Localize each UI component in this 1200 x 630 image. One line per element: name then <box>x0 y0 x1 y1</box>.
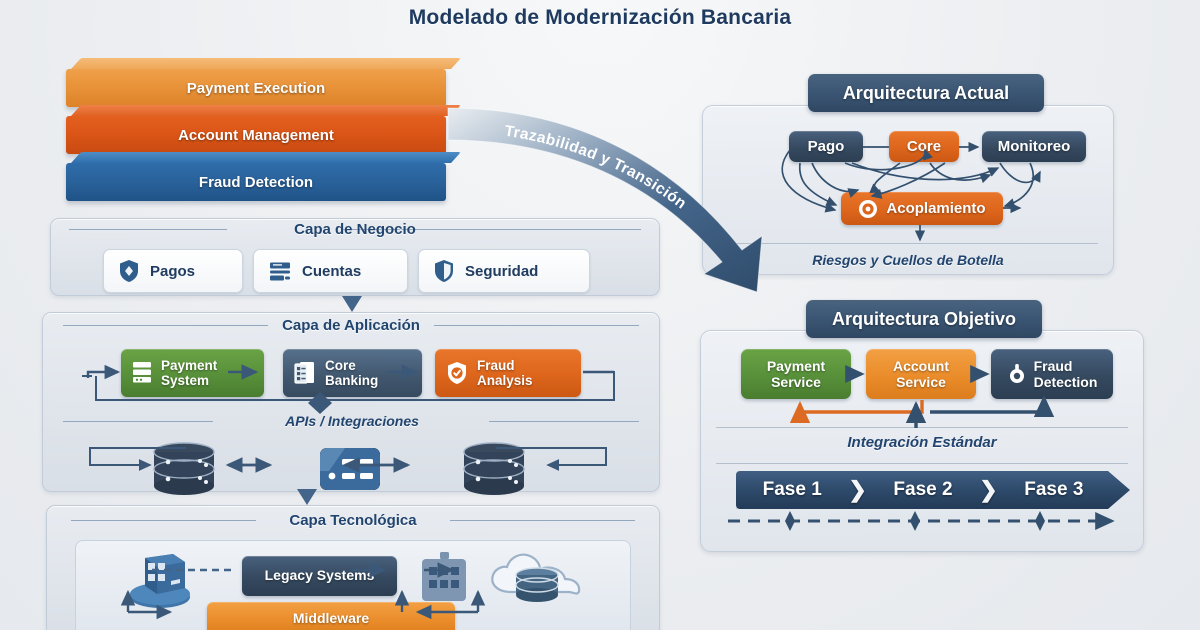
app-box-label-line2: Analysis <box>477 373 533 388</box>
business-card-label: Seguridad <box>465 263 538 280</box>
page-title: Modelado de Modernización Bancaria <box>0 6 1200 30</box>
service-label-line1: Fraud <box>1034 358 1098 374</box>
app-box-label-line1: Fraud <box>477 358 533 373</box>
capability-bar-label: Fraud Detection <box>199 174 313 191</box>
technology-layer-title: Capa Tecnológica <box>47 512 659 529</box>
application-layer-title: Capa de Aplicación <box>43 317 659 334</box>
database-icon[interactable] <box>458 441 530 497</box>
diagram-canvas: Modelado de Modernización Bancaria Payme… <box>0 0 1200 630</box>
app-box-label-line2: Banking <box>325 373 378 388</box>
application-layer-panel: Capa de Aplicación Payment System <box>42 312 660 492</box>
target-integration-label: Integración Estándar <box>700 434 1144 451</box>
business-card-pagos[interactable]: Pagos <box>103 249 243 293</box>
current-node-core[interactable]: Core <box>889 131 959 162</box>
target-architecture-title: Arquitectura Objetivo <box>806 300 1042 338</box>
middleware-label: Middleware <box>293 611 369 627</box>
server-icon <box>131 360 153 386</box>
business-card-seguridad[interactable]: Seguridad <box>418 249 590 293</box>
app-box-label-line1: Payment <box>161 358 217 373</box>
business-card-cuentas[interactable]: Cuentas <box>253 249 408 293</box>
current-node-acoplamiento[interactable]: Acoplamiento <box>841 192 1003 225</box>
node-label: Core <box>907 138 941 155</box>
business-card-label: Cuentas <box>302 263 361 280</box>
service-label-line1: Account <box>893 358 949 374</box>
target-service-payment[interactable]: Payment Service <box>741 349 851 399</box>
datacenter-icon[interactable] <box>417 550 471 608</box>
phase-item-2[interactable]: Fase 2 <box>867 479 979 501</box>
app-box-label-line1: Core <box>325 358 378 373</box>
capability-bar-label: Account Management <box>178 127 334 144</box>
capability-bar-fraud-detection[interactable]: Fraud Detection <box>66 163 446 201</box>
current-node-monitoreo[interactable]: Monitoreo <box>982 131 1086 162</box>
legacy-systems-box[interactable]: Legacy Systems <box>242 556 397 596</box>
target-icon <box>858 199 878 219</box>
legacy-systems-label: Legacy Systems <box>265 568 375 584</box>
divider <box>718 243 1098 244</box>
divider <box>716 427 1128 428</box>
middleware-box[interactable]: Middleware <box>207 602 455 630</box>
api-node-icon[interactable] <box>319 447 381 491</box>
shield-half-icon <box>433 259 455 283</box>
current-architecture-footnote: Riesgos y Cuellos de Botella <box>702 252 1114 268</box>
server-stack-icon <box>268 259 292 283</box>
app-box-fraud-analysis[interactable]: Fraud Analysis <box>435 349 581 397</box>
arrow-business-up <box>342 296 362 312</box>
service-label-line2: Service <box>771 374 821 390</box>
ledger-icon <box>293 360 317 386</box>
capability-bar-account-management[interactable]: Account Management <box>66 116 446 154</box>
current-architecture-title: Arquitectura Actual <box>808 74 1044 112</box>
target-service-fraud[interactable]: Fraud Detection <box>991 349 1113 399</box>
phase-item-3[interactable]: Fase 3 <box>998 479 1110 501</box>
chevron-right-icon: ❯ <box>848 477 866 503</box>
target-service-account[interactable]: Account Service <box>866 349 976 399</box>
app-box-core-banking[interactable]: Core Banking <box>283 349 422 397</box>
phase-item-1[interactable]: Fase 1 <box>736 479 848 501</box>
business-card-label: Pagos <box>150 263 195 280</box>
current-node-pago[interactable]: Pago <box>789 131 863 162</box>
business-layer-panel: Capa de Negocio Pagos Cuentas <box>50 218 660 296</box>
service-label-line2: Service <box>896 374 946 390</box>
chevron-right-icon: ❯ <box>979 477 997 503</box>
shield-icon <box>118 259 140 283</box>
phase-progress-bar[interactable]: Fase 1 ❯ Fase 2 ❯ Fase 3 <box>736 471 1130 509</box>
node-label: Monitoreo <box>998 138 1071 155</box>
server-cube-icon[interactable] <box>127 548 193 610</box>
app-box-payment-system[interactable]: Payment System <box>121 349 264 397</box>
divider <box>716 463 1128 464</box>
lock-icon <box>1007 362 1027 386</box>
node-label: Acoplamiento <box>886 200 985 217</box>
database-icon[interactable] <box>148 441 220 497</box>
capability-bar-payment-execution[interactable]: Payment Execution <box>66 69 446 107</box>
service-label-line2: Detection <box>1034 374 1098 390</box>
capability-bar-label: Payment Execution <box>187 80 325 97</box>
cloud-database-icon[interactable] <box>485 548 589 610</box>
app-box-label-line2: System <box>161 373 217 388</box>
technology-layer-panel: Capa Tecnológica Legacy Systems <box>46 505 660 630</box>
service-label-line1: Payment <box>767 358 825 374</box>
shield-check-icon <box>445 360 469 386</box>
business-layer-title: Capa de Negocio <box>51 221 659 238</box>
transition-arrow-label: Trazabilidad y Transición <box>503 123 689 213</box>
node-label: Pago <box>808 138 845 155</box>
apis-integrations-label: APIs / Integraciones <box>43 413 661 429</box>
